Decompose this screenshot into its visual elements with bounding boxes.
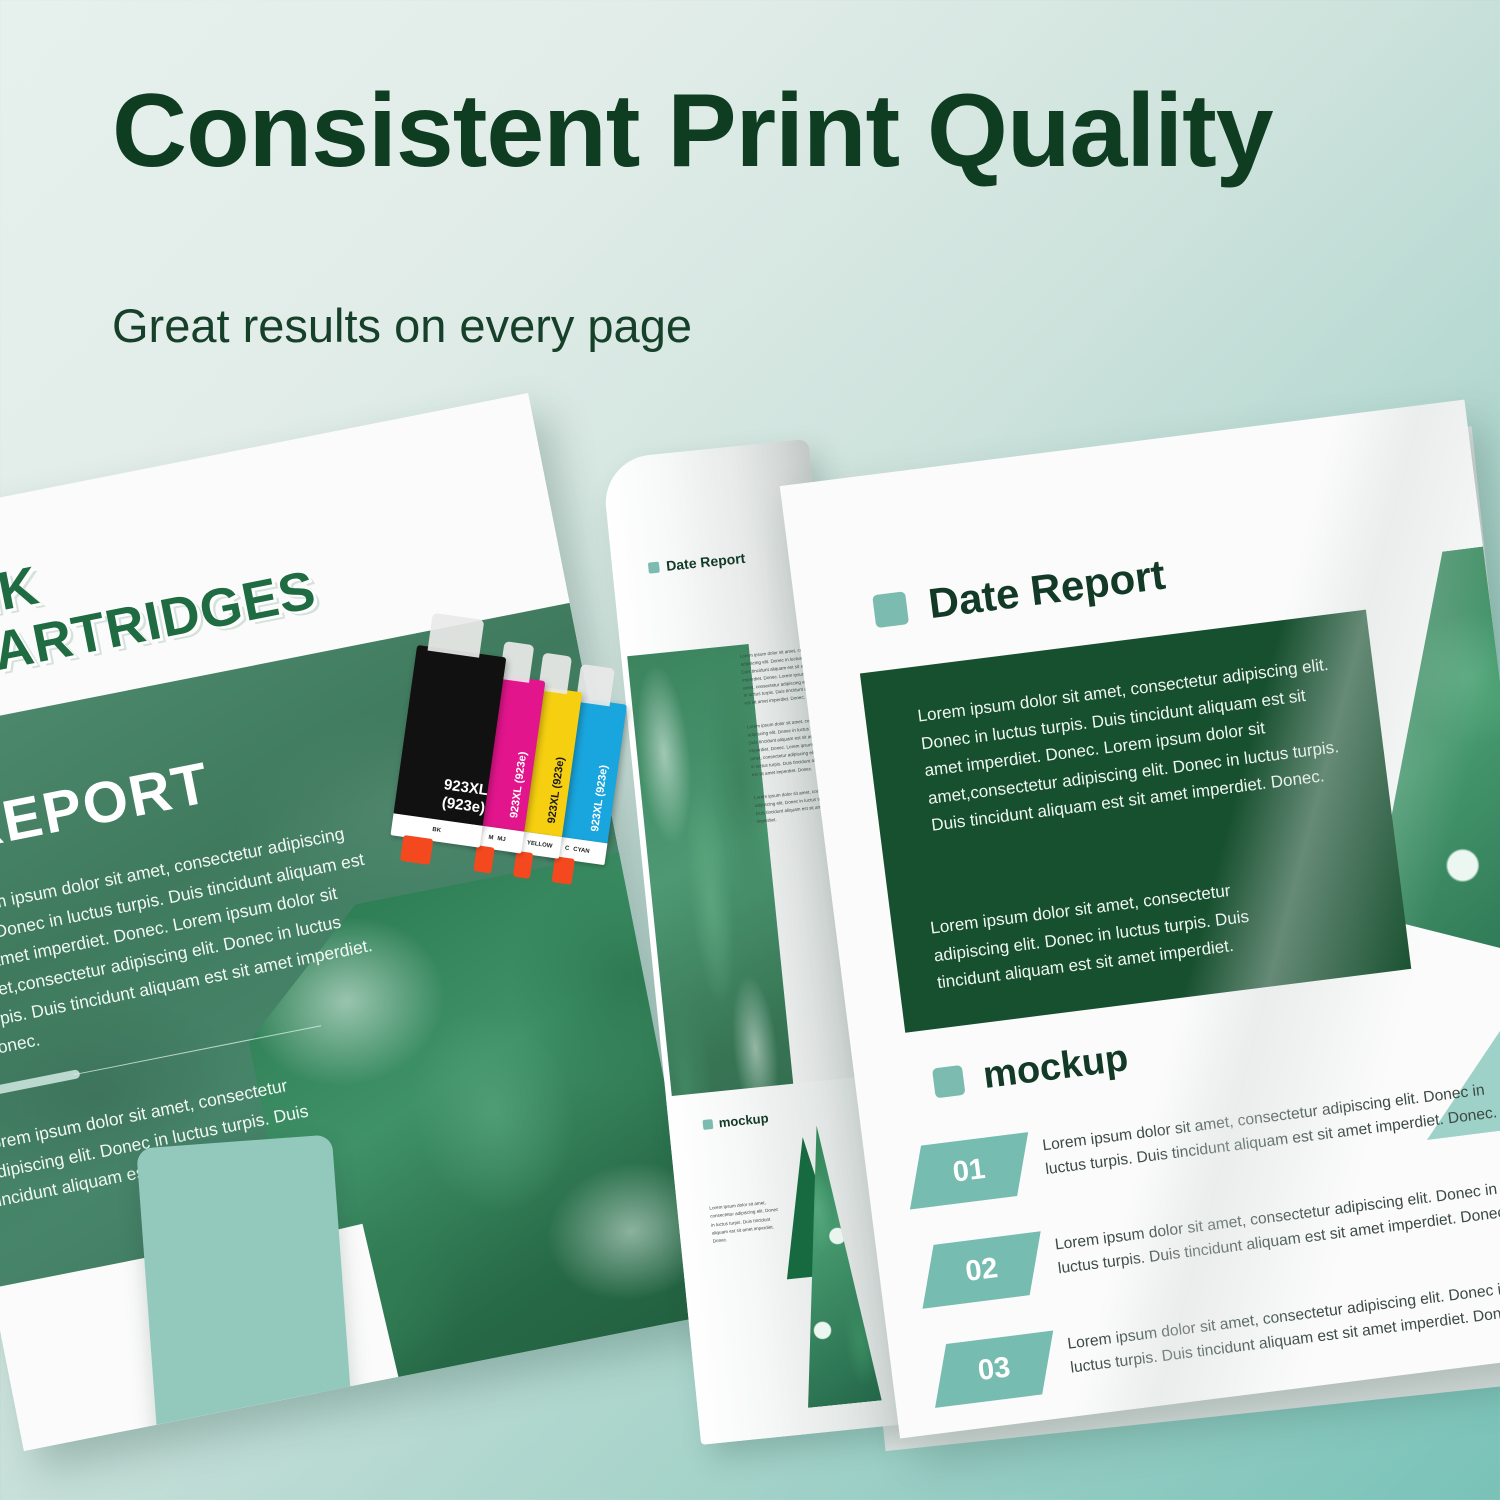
cartridge-black-model: 923XL (923e) <box>440 776 489 818</box>
right-green-text-panel: Lorem ipsum dolor sit amet, consectetur … <box>860 610 1411 1033</box>
cartridge-magenta-model: 923XL (923e) <box>508 751 529 819</box>
right-green-paragraph-1: Lorem ipsum dolor sit amet, consectetur … <box>916 650 1350 839</box>
cartridge-magenta-code-alt: MJ <box>497 836 506 843</box>
badge-number: 01 <box>951 1152 987 1189</box>
curl-mockup-body: Lorem ipsum dolor sit amet, consectetur … <box>709 1198 783 1246</box>
mockup-heading: mockup <box>931 1037 1131 1104</box>
list-item-badge-02: 02 <box>923 1231 1041 1308</box>
cartridge-cyan-code-alt: CYAN <box>573 847 590 855</box>
cartridge-yellow-model: 923XL (923e) <box>546 756 567 824</box>
list-item-text: Lorem ipsum dolor sit amet, consectetur … <box>1053 1168 1500 1282</box>
cartridge-black-code: BK <box>432 827 441 834</box>
left-teal-card <box>136 1134 356 1451</box>
list-item-text: Lorem ipsum dolor sit amet, consectetur … <box>1041 1069 1500 1183</box>
cartridge-cap-icon <box>427 613 484 658</box>
mockup-label: mockup <box>981 1037 1131 1098</box>
badge-number: 02 <box>964 1252 1000 1289</box>
square-bullet-icon <box>702 1119 713 1130</box>
square-bullet-icon <box>648 561 660 573</box>
headline-block: Consistent Print Quality Great results o… <box>112 76 1432 353</box>
cartridge-cyan-code: C <box>565 846 570 853</box>
page-title: Consistent Print Quality <box>112 76 1432 186</box>
square-bullet-icon <box>872 591 909 628</box>
curl-heading-label: Date Report <box>665 550 746 574</box>
cartridge-cap-icon <box>576 664 615 706</box>
date-report-label: Date Report <box>926 551 1168 628</box>
list-item-text: Lorem ipsum dolor sit amet, consectetur … <box>1066 1268 1500 1382</box>
list-item-badge-01: 01 <box>910 1132 1028 1209</box>
ink-cartridge-group: 923XL (923e) C CYAN 923XL (923e) Y YELLO… <box>380 597 655 898</box>
cartridge-clip-icon <box>552 856 575 884</box>
right-brochure: Date Report Lorem ipsum dolor sit amet, … <box>579 349 1500 1451</box>
cartridge-cyan-model: 923XL (923e) <box>589 764 610 832</box>
cartridge-clip-icon <box>474 845 495 873</box>
right-main-page: Date Report Lorem ipsum dolor sit amet, … <box>780 400 1500 1439</box>
list-item-badge-03: 03 <box>935 1330 1053 1407</box>
page-subtitle: Great results on every page <box>112 298 1432 353</box>
right-green-paragraph-2: Lorem ipsum dolor sit amet, consectetur … <box>929 868 1306 996</box>
cartridge-clip-icon <box>513 851 533 879</box>
cartridge-clip-icon <box>400 835 434 865</box>
curl-date-report-heading: Date Report <box>648 550 746 576</box>
cartridge-yellow-code-alt: YELLOW <box>526 840 552 850</box>
badge-number: 03 <box>976 1351 1012 1388</box>
square-bullet-icon <box>932 1064 966 1098</box>
cartridge-magenta-code: M <box>488 835 494 842</box>
date-report-heading: Date Report <box>871 551 1168 635</box>
